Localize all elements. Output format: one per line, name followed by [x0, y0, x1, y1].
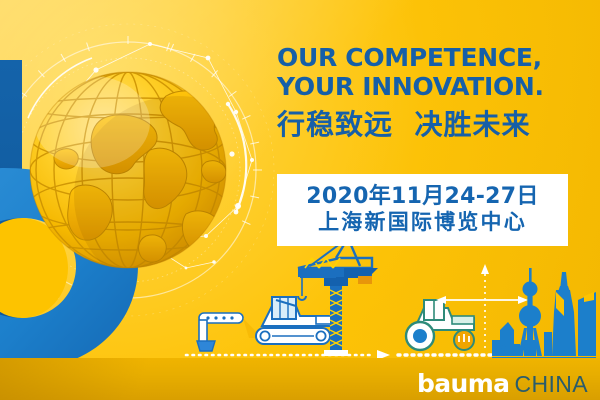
- excavator-illustration: [256, 297, 332, 344]
- bauma-china-banner: OUR COMPETENCE, YOUR INNOVATION. 行稳致远 决胜…: [0, 0, 600, 400]
- event-info-box: 2020年11月24-27日 上海新国际博览中心: [277, 174, 568, 246]
- headline-chinese: 行稳致远 决胜未来: [277, 110, 577, 141]
- shanghai-skyline-illustration: [492, 268, 596, 363]
- headline-english-line1: OUR COMPETENCE,: [277, 44, 577, 73]
- headline-english-line2: YOUR INNOVATION.: [277, 73, 577, 102]
- bauma-china-logo: bauma CHINA: [417, 371, 588, 396]
- hydraulic-arm-illustration: [197, 313, 262, 351]
- footer-sheen: [0, 358, 200, 400]
- measurement-crosshair: [436, 264, 528, 348]
- logo-word-china: CHINA: [514, 373, 588, 396]
- logo-word-bauma: bauma: [417, 371, 509, 396]
- event-venue: 上海新国际博览中心: [318, 211, 527, 235]
- headline-block: OUR COMPETENCE, YOUR INNOVATION. 行稳致远 决胜…: [277, 44, 577, 141]
- event-date: 2020年11月24-27日: [306, 185, 538, 210]
- road-roller-illustration: [406, 300, 474, 350]
